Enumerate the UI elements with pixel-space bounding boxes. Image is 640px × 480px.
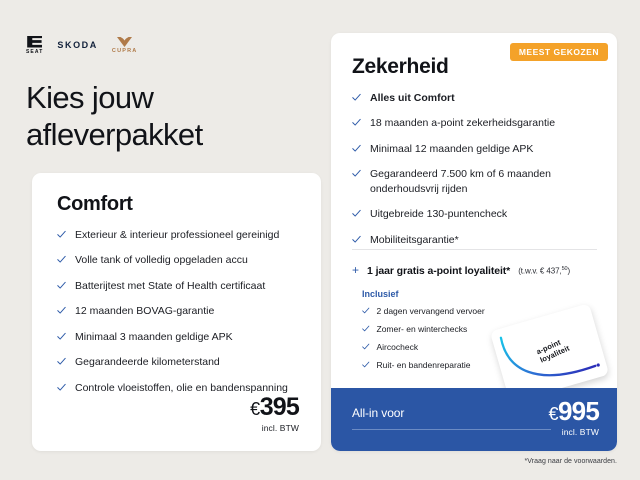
feature-text: Exterieur & interieur professioneel gere… (75, 228, 279, 242)
bonus-value-prefix: (t.w.v. € 437, (518, 267, 561, 276)
inclusief-text: Zomer- en winterchecks (377, 324, 468, 335)
comfort-title: Comfort (57, 193, 133, 216)
list-item: 18 maanden a-point zekerheidsgarantie (352, 116, 602, 130)
list-item: 2 dagen vervangend vervoer (362, 306, 572, 317)
status-badge: MEEST GEKOZEN (510, 43, 608, 61)
allin-price-block: €995 incl. BTW (549, 398, 600, 437)
check-icon (57, 357, 66, 366)
comfort-price-note: incl. BTW (250, 423, 299, 433)
bonus-label: 1 jaar gratis a-point loyaliteit* (367, 265, 510, 277)
brand-logo-bar: SEAT SKODA CUPRA (26, 35, 137, 55)
section-divider (352, 249, 597, 250)
skoda-logo: SKODA (57, 41, 98, 50)
list-item: Mobiliteitsgarantie* (352, 233, 602, 247)
check-icon (362, 325, 370, 333)
inclusief-text: Aircocheck (377, 342, 419, 353)
comfort-price-block: €395 incl. BTW (250, 395, 299, 433)
list-item: Volle tank of volledig opgeladen accu (57, 253, 301, 267)
check-icon (57, 255, 66, 264)
poster-root: SEAT SKODA CUPRA Kies jouw afleverpakket… (0, 0, 640, 480)
inclusief-text: 2 dagen vervangend vervoer (377, 306, 485, 317)
feature-text: Minimaal 3 maanden geldige APK (75, 330, 233, 344)
price-amount: 995 (558, 396, 599, 426)
check-icon (362, 343, 370, 351)
cupra-wordmark: CUPRA (112, 49, 138, 55)
allin-underline (352, 429, 551, 430)
footnote: *Vraag naar de voorwaarden. (524, 458, 617, 465)
check-icon (57, 230, 66, 239)
bonus-value-suffix: ) (567, 267, 570, 276)
list-item: Alles uit Comfort (352, 91, 602, 105)
check-icon (352, 118, 361, 127)
plus-icon: + (352, 264, 359, 276)
list-item: Batterijtest met State of Health certifi… (57, 279, 301, 293)
allin-price: €995 (549, 398, 600, 424)
feature-text: Controle vloeistoffen, olie en bandenspa… (75, 381, 288, 395)
comfort-package-card[interactable]: Comfort Exterieur & interieur profession… (32, 173, 321, 451)
currency-symbol: € (549, 404, 559, 424)
bonus-row: + 1 jaar gratis a-point loyaliteit* (t.w… (352, 264, 602, 277)
feature-text: 12 maanden BOVAG-garantie (75, 304, 214, 318)
seat-wordmark: SEAT (26, 50, 43, 55)
allin-label: All-in voor (352, 406, 404, 420)
feature-text: Uitgebreide 130-puntencheck (370, 207, 507, 221)
feature-text: Gegarandeerde kilometerstand (75, 355, 220, 369)
check-icon (57, 281, 66, 290)
comfort-feature-list: Exterieur & interieur professioneel gere… (57, 228, 301, 406)
list-item: Minimaal 3 maanden geldige APK (57, 330, 301, 344)
zekerheid-feature-list: Alles uit Comfort 18 maanden a-point zek… (352, 91, 602, 258)
check-icon (57, 383, 66, 392)
list-item: Uitgebreide 130-puntencheck (352, 207, 602, 221)
allin-price-bar: All-in voor €995 incl. BTW (331, 388, 617, 451)
list-item: Gegarandeerd 7.500 km of 6 maanden onder… (352, 167, 602, 196)
feature-text: Batterijtest met State of Health certifi… (75, 279, 265, 293)
allin-price-note: incl. BTW (549, 427, 600, 437)
check-icon (362, 307, 370, 315)
cupra-mark-icon (116, 36, 133, 48)
feature-text: 18 maanden a-point zekerheidsgarantie (370, 116, 555, 130)
seat-mark-icon (27, 36, 42, 48)
skoda-wordmark: SKODA (57, 41, 98, 50)
check-icon (57, 332, 66, 341)
inclusief-text: Ruit- en bandenreparatie (377, 360, 471, 371)
seat-logo: SEAT (26, 36, 43, 55)
check-icon (352, 144, 361, 153)
page-title: Kies jouw afleverpakket (26, 80, 316, 153)
comfort-price: €395 (250, 395, 299, 420)
inclusief-title: Inclusief (362, 289, 572, 299)
list-item: Exterieur & interieur professioneel gere… (57, 228, 301, 242)
feature-text: Mobiliteitsgarantie* (370, 233, 459, 247)
feature-text: Volle tank of volledig opgeladen accu (75, 253, 248, 267)
zekerheid-title: Zekerheid (352, 55, 449, 79)
feature-text: Minimaal 12 maanden geldige APK (370, 142, 533, 156)
check-icon (352, 235, 361, 244)
list-item: Minimaal 12 maanden geldige APK (352, 142, 602, 156)
zekerheid-package-card[interactable]: MEEST GEKOZEN Zekerheid Alles uit Comfor… (331, 33, 617, 451)
price-amount: 395 (260, 393, 299, 421)
bonus-value: (t.w.v. € 437,50) (518, 266, 570, 276)
feature-text: Gegarandeerd 7.500 km of 6 maanden onder… (370, 167, 602, 196)
check-icon (352, 209, 361, 218)
cupra-logo: CUPRA (112, 36, 138, 55)
check-icon (57, 306, 66, 315)
check-icon (362, 361, 370, 369)
check-icon (352, 169, 361, 178)
list-item: Gegarandeerde kilometerstand (57, 355, 301, 369)
check-icon (352, 93, 361, 102)
feature-text: Alles uit Comfort (370, 91, 455, 105)
currency-symbol: € (250, 399, 260, 419)
list-item: 12 maanden BOVAG-garantie (57, 304, 301, 318)
